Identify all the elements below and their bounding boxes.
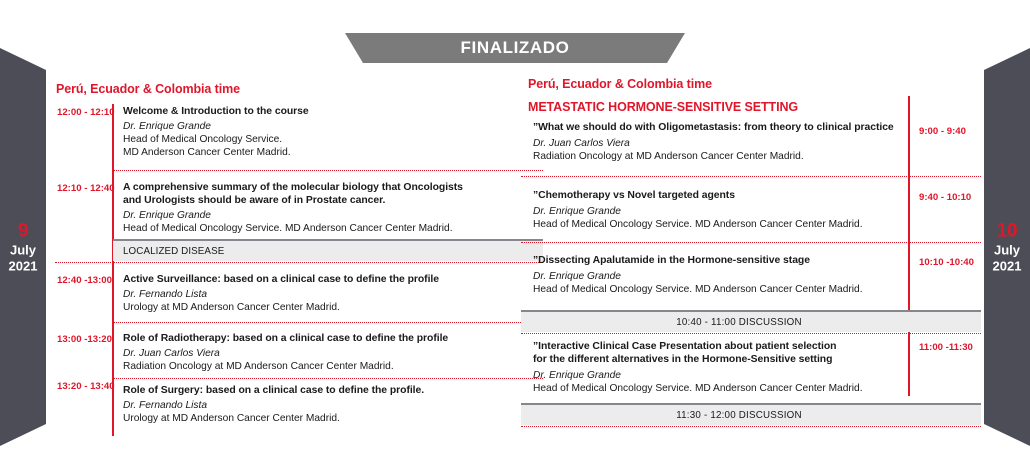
- day1-session-1-body: Welcome & Introduction to the course Dr.…: [123, 105, 485, 159]
- day2-session-1-speaker: Dr. Juan Carlos Viera: [533, 137, 903, 150]
- day1-session-5-title: Role of Surgery: based on a clinical cas…: [123, 384, 485, 397]
- date-panel-day1-year: 2021: [0, 258, 46, 273]
- day2-separator-4: [521, 426, 981, 427]
- day2-discussion-2: 11:30 - 12:00 DISCUSSION: [521, 403, 981, 425]
- day1-session-3-title: Active Surveillance: based on a clinical…: [123, 273, 485, 286]
- day2-session-3-time: 10:10 -10:40: [919, 257, 974, 268]
- day2-session-4-title-1: ”Interactive Clinical Case Presentation …: [533, 340, 903, 353]
- day2-timezone-title: Perú, Ecuador & Colombia time: [528, 77, 712, 91]
- day1-session-2-title-2: and Urologists should be aware of in Pro…: [123, 194, 485, 207]
- day1-session-1-title: Welcome & Introduction to the course: [123, 105, 485, 118]
- day1-section-localized-disease-label: LOCALIZED DISEASE: [113, 246, 224, 257]
- day2-session-1-body: ”What we should do with Oligometastasis:…: [533, 121, 903, 163]
- day1-session-1-affiliation-1: Head of Medical Oncology Service.: [123, 133, 485, 146]
- day2-session-2-speaker: Dr. Enrique Grande: [533, 205, 903, 218]
- day1-session-2-time: 12:10 - 12:40: [57, 183, 115, 194]
- day1-session-4-time: 13:00 -13:20: [57, 334, 112, 345]
- date-panel-day2-inner: 10 July 2021: [984, 220, 1030, 273]
- day2-session-4-time: 11:00 -11:30: [919, 342, 973, 353]
- day1-section-localized-disease: LOCALIZED DISEASE: [113, 239, 543, 261]
- day1-session-4-title: Role of Radiotherapy: based on a clinica…: [123, 332, 485, 345]
- date-panel-day1: 9 July 2021: [0, 48, 46, 446]
- day1-session-2-title-1: A comprehensive summary of the molecular…: [123, 181, 485, 194]
- day2-session-3-body: ”Dissecting Apalutamide in the Hormone-s…: [533, 254, 903, 296]
- day2-session-4-affiliation-1: Head of Medical Oncology Service. MD And…: [533, 382, 903, 395]
- status-banner-label: FINALIZADO: [345, 33, 685, 63]
- day1-session-3-time: 12:40 -13:00: [57, 275, 112, 286]
- day2-session-1-affiliation-1: Radiation Oncology at MD Anderson Cancer…: [533, 150, 903, 163]
- day2-session-2-title: ”Chemotherapy vs Novel targeted agents: [533, 189, 903, 202]
- day2-session-2-body: ”Chemotherapy vs Novel targeted agents D…: [533, 189, 903, 231]
- date-panel-day2-month: July: [984, 243, 1030, 258]
- day2-session-4-body: ”Interactive Clinical Case Presentation …: [533, 340, 903, 395]
- date-panel-day2: 10 July 2021: [984, 48, 1030, 446]
- day1-session-2-speaker: Dr. Enrique Grande: [123, 209, 485, 222]
- day2-session-3-affiliation-1: Head of Medical Oncology Service. MD And…: [533, 283, 903, 296]
- date-panel-day2-year: 2021: [984, 258, 1030, 273]
- day1-session-3-affiliation-1: Urology at MD Anderson Cancer Center Mad…: [123, 301, 485, 314]
- day1-session-4-affiliation-1: Radiation Oncology at MD Anderson Cancer…: [123, 360, 485, 373]
- day2-session-2-time: 9:40 - 10:10: [919, 192, 971, 203]
- day1-separator-3: [113, 322, 543, 323]
- day2-setting-title: METASTATIC HORMONE-SENSITIVE SETTING: [528, 100, 798, 114]
- agenda-canvas: 9 July 2021 10 July 2021 FINALIZADO Perú…: [0, 0, 1030, 450]
- day2-session-1-title: ”What we should do with Oligometastasis:…: [533, 121, 903, 134]
- day1-session-1-speaker: Dr. Enrique Grande: [123, 120, 485, 133]
- day2-separator-2: [521, 242, 981, 243]
- day2-discussion-1-label: 10:40 - 11:00 DISCUSSION: [676, 317, 826, 328]
- day2-timeline-rail: [908, 96, 910, 396]
- day2-session-4-speaker: Dr. Enrique Grande: [533, 369, 903, 382]
- day1-separator-2: [55, 262, 543, 263]
- day1-session-1-affiliation-2: MD Anderson Cancer Center Madrid.: [123, 146, 485, 159]
- day1-separator-1: [113, 170, 543, 171]
- day1-session-5-speaker: Dr. Fernando Lista: [123, 399, 485, 412]
- date-panel-day1-inner: 9 July 2021: [0, 220, 46, 273]
- day2-session-1-time: 9:00 - 9:40: [919, 126, 966, 137]
- date-panel-day2-day: 10: [984, 220, 1030, 242]
- day1-session-4-body: Role of Radiotherapy: based on a clinica…: [123, 332, 485, 373]
- day2-session-4-title-2: for the different alternatives in the Ho…: [533, 353, 903, 366]
- day1-session-5-affiliation-1: Urology at MD Anderson Cancer Center Mad…: [123, 412, 485, 425]
- day2-separator-1: [521, 176, 981, 177]
- date-panel-day1-day: 9: [0, 220, 46, 242]
- day1-session-2-affiliation-1: Head of Medical Oncology Service. MD And…: [123, 222, 485, 235]
- day1-session-5-time: 13:20 - 13:40: [57, 381, 115, 392]
- day1-session-4-speaker: Dr. Juan Carlos Viera: [123, 347, 485, 360]
- day1-timezone-title: Perú, Ecuador & Colombia time: [56, 82, 240, 96]
- day1-session-2-body: A comprehensive summary of the molecular…: [123, 181, 485, 235]
- day1-session-3-speaker: Dr. Fernando Lista: [123, 288, 485, 301]
- day2-discussion-1: 10:40 - 11:00 DISCUSSION: [521, 310, 981, 332]
- day1-session-5-body: Role of Surgery: based on a clinical cas…: [123, 384, 485, 425]
- date-panel-day1-month: July: [0, 243, 46, 258]
- day1-session-3-body: Active Surveillance: based on a clinical…: [123, 273, 485, 314]
- day2-session-3-title: ”Dissecting Apalutamide in the Hormone-s…: [533, 254, 903, 267]
- day2-discussion-2-label: 11:30 - 12:00 DISCUSSION: [676, 410, 826, 421]
- day1-session-1-time: 12:00 - 12:10: [57, 107, 115, 118]
- day2-session-2-affiliation-1: Head of Medical Oncology Service. MD And…: [533, 218, 903, 231]
- day2-separator-3: [521, 333, 981, 334]
- day2-session-3-speaker: Dr. Enrique Grande: [533, 270, 903, 283]
- status-banner: FINALIZADO: [345, 33, 685, 63]
- day1-separator-4: [113, 378, 543, 379]
